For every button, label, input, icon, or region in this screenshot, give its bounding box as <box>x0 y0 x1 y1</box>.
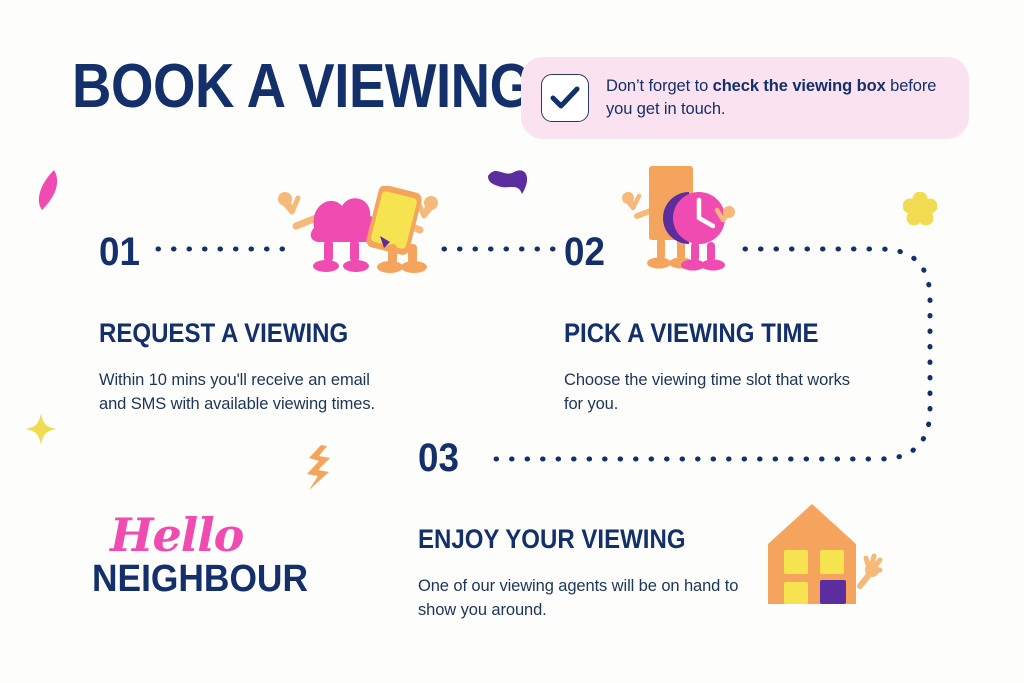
waving-house-illustration <box>762 496 884 612</box>
logo-wordmark: NEIGHBOUR <box>92 560 259 598</box>
pink-ribbon-decoration <box>30 168 66 214</box>
logo-script-hello: Hello <box>110 512 272 558</box>
step-description: One of our viewing agents will be on han… <box>418 575 748 623</box>
yellow-flower-decoration <box>903 192 937 226</box>
infographic-canvas: BOOK A VIEWING Don’t forget to check the… <box>0 0 1024 683</box>
step-heading: PICK A VIEWING TIME <box>564 320 831 347</box>
step-03: 03 ENJOY YOUR VIEWING One of our viewing… <box>418 438 748 623</box>
step-description: Choose the viewing time slot that works … <box>564 369 864 417</box>
callout-box: Don’t forget to check the viewing box be… <box>521 57 969 139</box>
step-number: 03 <box>418 438 722 478</box>
brand-logo: Hello NEIGHBOUR <box>92 512 272 598</box>
orange-lightning-decoration <box>303 444 333 492</box>
step-heading: REQUEST A VIEWING <box>99 320 366 347</box>
purple-wave-decoration <box>486 164 532 200</box>
callout-text-prefix: Don’t forget to <box>606 77 713 95</box>
pink-blob-and-phone-character-illustration <box>272 186 444 278</box>
step-description: Within 10 mins you'll receive an email a… <box>99 369 399 417</box>
yellow-star-decoration <box>24 412 58 446</box>
step-heading: ENJOY YOUR VIEWING <box>418 526 712 553</box>
door-and-clock-character-illustration <box>617 160 737 272</box>
callout-text: Don’t forget to check the viewing box be… <box>606 75 949 122</box>
page-title: BOOK A VIEWING <box>72 56 532 118</box>
checkbox-checked-icon[interactable] <box>541 74 589 122</box>
callout-text-bold: check the viewing box <box>713 77 886 95</box>
